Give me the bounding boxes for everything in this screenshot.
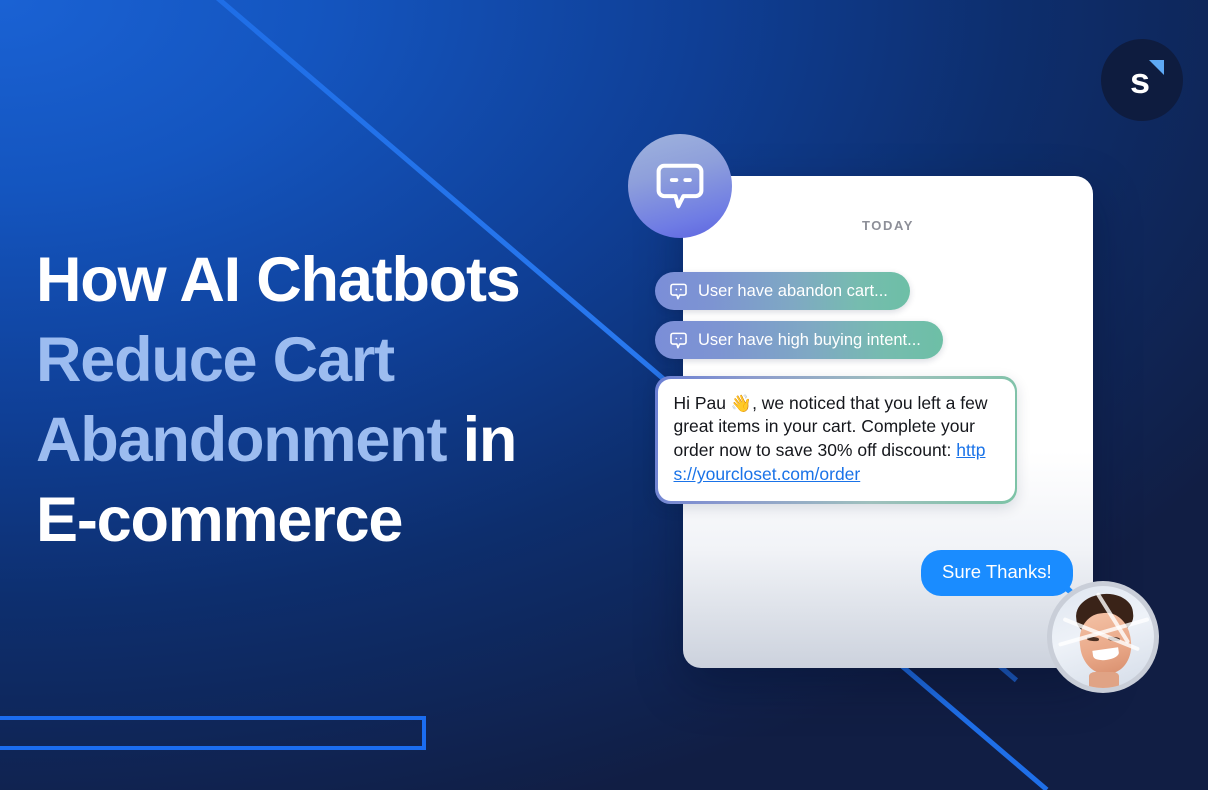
headline-line-3-part-b: in [463,405,517,475]
brand-logo-letter: s [1130,63,1150,99]
bot-message-greeting: Hi Pau [674,393,731,413]
headline-line-3-part-a: Abandonment [36,405,463,475]
poster-canvas: s How AI Chatbots Reduce Cart Abandonmen… [0,0,1208,790]
system-pill-buying-intent: User have high buying intent... [655,321,943,359]
user-reply-bubble: Sure Thanks! [921,550,1073,596]
bot-message-text: Hi Pau 👋, we noticed that you left a few… [658,379,1015,502]
system-pill-abandon-cart: User have abandon cart... [655,272,910,310]
headline-line-4: E-commerce [36,480,656,560]
chat-bubble-icon [669,331,688,350]
bot-message-bubble: Hi Pau 👋, we noticed that you left a few… [655,376,1017,504]
chatbot-bubble-icon [653,159,707,213]
avatar-neck [1089,672,1120,688]
chat-bubble-icon [669,282,688,301]
decorative-outline-rectangle [0,716,426,750]
chatbot-avatar [628,134,732,238]
user-reply-text: Sure Thanks! [942,561,1052,582]
system-pill-label: User have high buying intent... [698,331,921,350]
brand-logo[interactable]: s [1101,39,1183,121]
page-title: How AI Chatbots Reduce Cart Abandonment … [36,240,656,560]
chat-day-divider: TODAY [683,218,1093,233]
system-pill-label: User have abandon cart... [698,282,888,301]
triangle-accent-icon [1149,60,1164,75]
waving-hand-icon: 👋 [731,394,752,413]
user-avatar-photo [1052,586,1154,688]
headline-line-2: Reduce Cart [36,320,656,400]
user-avatar [1047,581,1159,693]
headline-line-3: Abandonment in [36,400,656,480]
headline-line-1: How AI Chatbots [36,240,656,320]
